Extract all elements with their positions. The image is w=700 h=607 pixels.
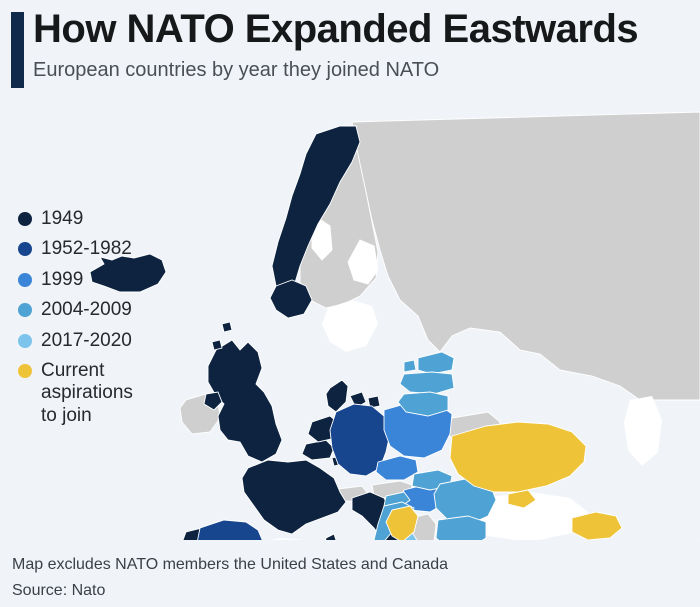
legend-item-1952-1982[interactable]: 1952-1982 bbox=[18, 238, 133, 260]
infographic-root: How NATO Expanded Eastwards European cou… bbox=[0, 0, 700, 607]
page-title: How NATO Expanded Eastwards bbox=[33, 7, 638, 51]
legend-label-1999: 1999 bbox=[41, 269, 83, 291]
footer: Map excludes NATO members the United Sta… bbox=[0, 540, 700, 607]
legend: 1949 1952-1982 1999 2004-2009 2017-2020 … bbox=[18, 208, 133, 435]
legend-label-2004-2009: 2004-2009 bbox=[41, 299, 132, 321]
legend-swatch-1949 bbox=[18, 212, 32, 226]
legend-label-1949: 1949 bbox=[41, 208, 83, 230]
legend-item-aspirations[interactable]: Current aspirations to join bbox=[18, 360, 133, 427]
legend-swatch-2017-2020 bbox=[18, 334, 32, 348]
legend-item-2004-2009[interactable]: 2004-2009 bbox=[18, 299, 133, 321]
legend-item-1999[interactable]: 1999 bbox=[18, 269, 133, 291]
legend-item-2017-2020[interactable]: 2017-2020 bbox=[18, 330, 133, 352]
legend-swatch-1952-1982 bbox=[18, 242, 32, 256]
legend-item-1949[interactable]: 1949 bbox=[18, 208, 133, 230]
legend-label-2017-2020: 2017-2020 bbox=[41, 330, 132, 352]
accent-bar bbox=[11, 12, 24, 88]
legend-swatch-1999 bbox=[18, 273, 32, 287]
footer-source: Source: Nato bbox=[12, 582, 105, 600]
header: How NATO Expanded Eastwards European cou… bbox=[0, 0, 700, 100]
legend-swatch-aspirations bbox=[18, 364, 32, 378]
legend-swatch-2004-2009 bbox=[18, 303, 32, 317]
legend-label-aspirations: Current aspirations to join bbox=[41, 360, 133, 427]
footer-note: Map excludes NATO members the United Sta… bbox=[12, 556, 448, 574]
legend-label-1952-1982: 1952-1982 bbox=[41, 238, 132, 260]
page-subtitle: European countries by year they joined N… bbox=[33, 59, 439, 82]
